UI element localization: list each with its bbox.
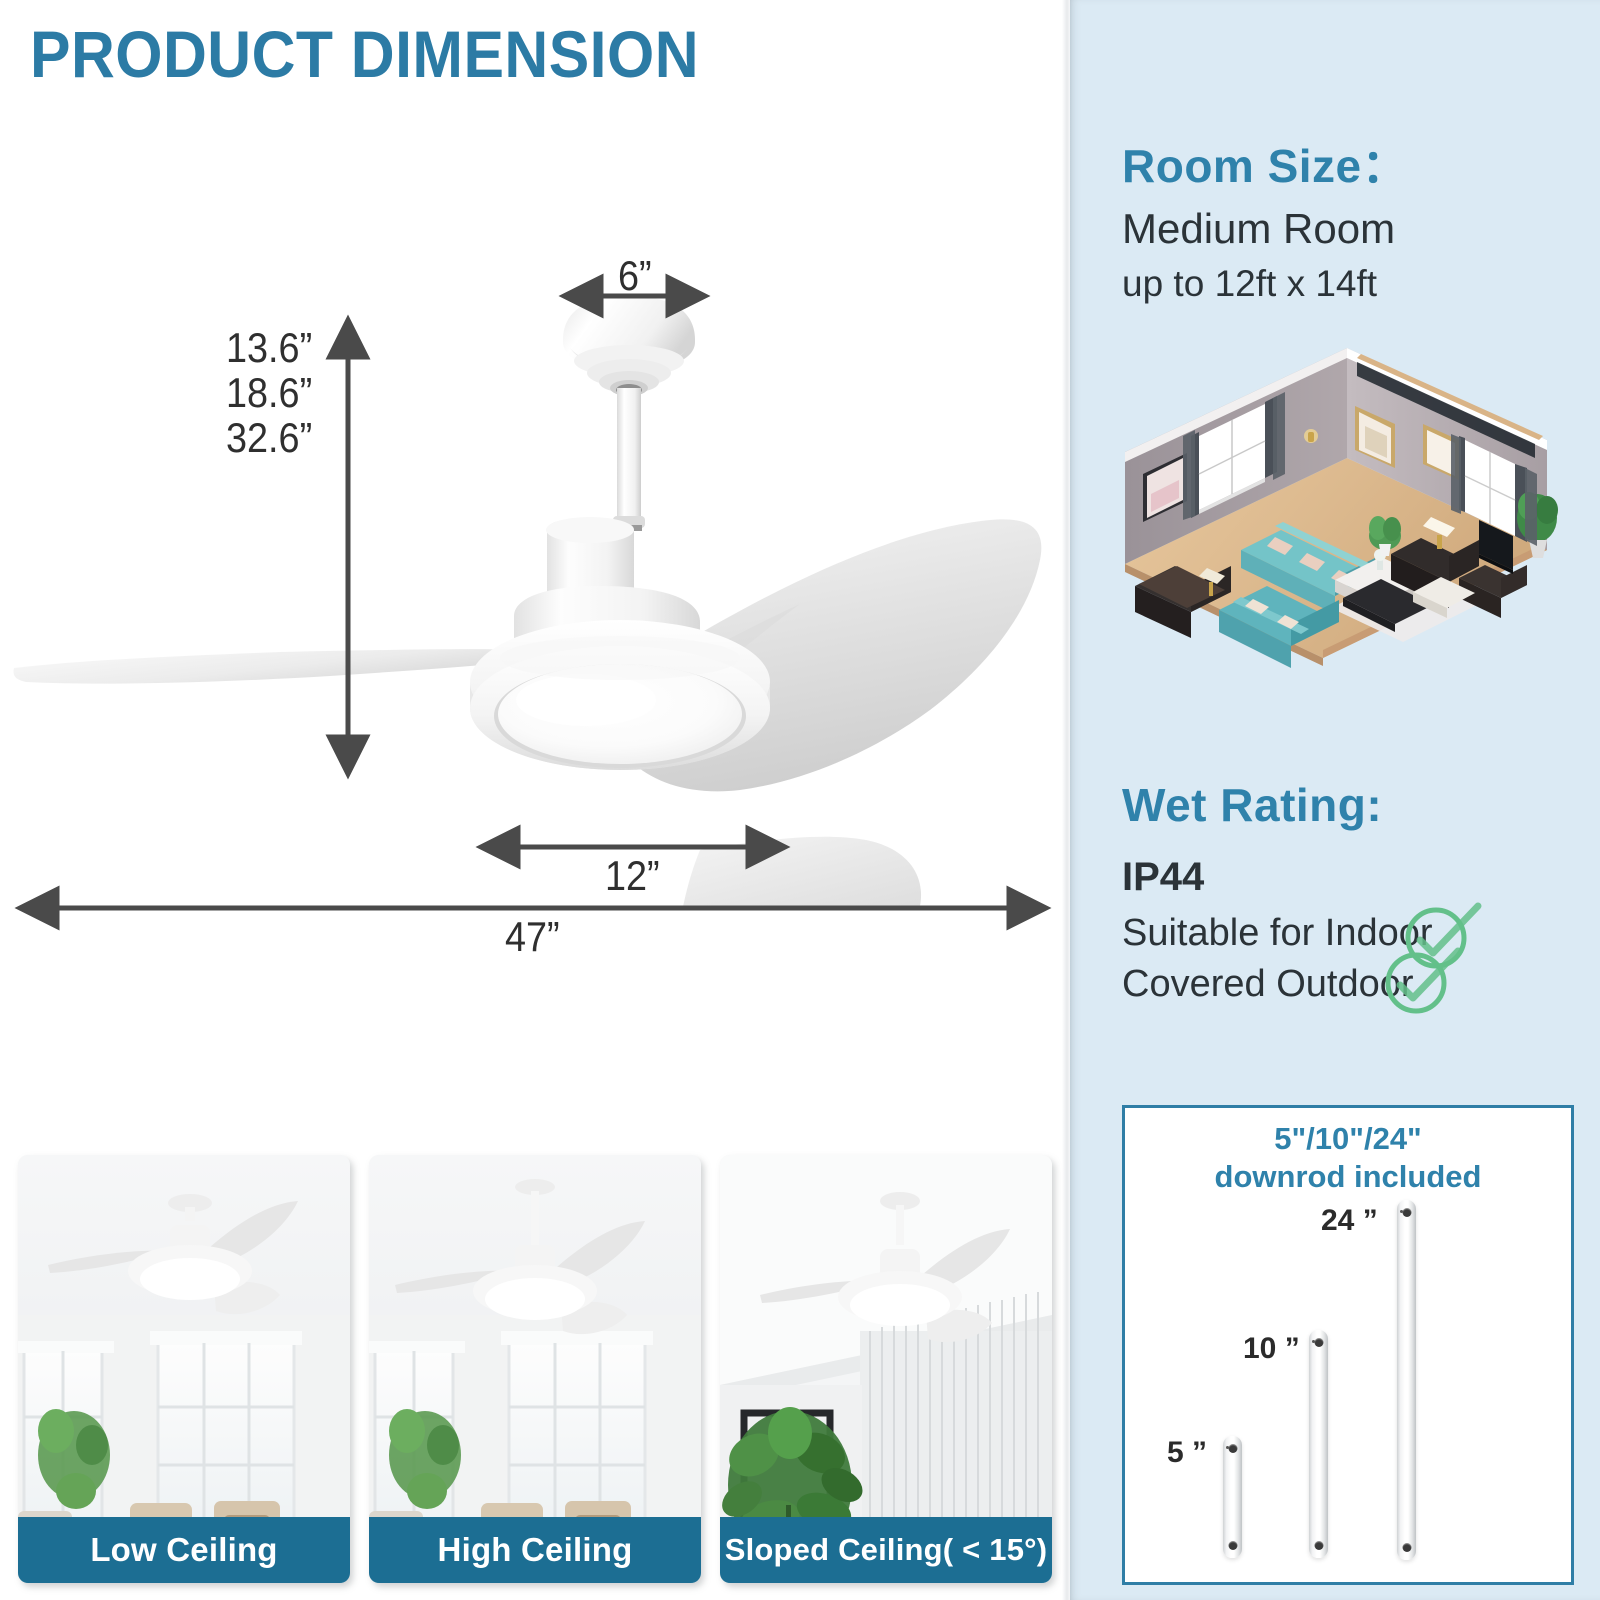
thumbnail-sloped-ceiling[interactable]: Sloped Ceiling( < 15°): [720, 1155, 1052, 1583]
room-size-heading: Room Size：: [1122, 130, 1408, 196]
wet-rating-code: IP44: [1122, 855, 1204, 900]
wet-rating-heading: Wet Rating:: [1122, 778, 1382, 832]
thumbnail-caption: Low Ceiling: [18, 1517, 350, 1583]
downrod-label-5: 5 ”: [1167, 1436, 1207, 1470]
downrod-24: [1397, 1200, 1416, 1560]
downrod-panel: 5"/10"/24" downrod included 24 ” 10 ” 5 …: [1122, 1105, 1574, 1585]
blade-span-label: 47”: [505, 913, 560, 961]
downrod-5: [1223, 1436, 1242, 1558]
infographic-page: PRODUCT DIMENSION: [0, 0, 1600, 1600]
room-size-value: Medium Room: [1122, 205, 1395, 253]
thumbnail-caption: High Ceiling: [369, 1517, 701, 1583]
height-option-2: 18.6”: [226, 370, 312, 415]
height-option-1: 13.6”: [226, 325, 312, 370]
dimension-arrows: [0, 0, 1070, 1000]
downrod-title-line1: 5"/10"/24": [1125, 1120, 1571, 1158]
thumbnail-caption: Sloped Ceiling( < 15°): [720, 1517, 1052, 1583]
downrod-label-10: 10 ”: [1243, 1332, 1300, 1366]
downrod-title: 5"/10"/24" downrod included: [1125, 1120, 1571, 1196]
downrod-title-line2: downrod included: [1125, 1158, 1571, 1196]
check-icon: [1378, 943, 1464, 1026]
thumbnail-low-ceiling[interactable]: Low Ceiling: [18, 1155, 350, 1583]
downrod-10: [1309, 1330, 1328, 1558]
light-width-label: 12”: [605, 852, 660, 900]
living-room-render: [1095, 340, 1575, 680]
wet-rating-detail-2: Covered Outdoor: [1122, 963, 1414, 1006]
height-options: 13.6” 18.6” 32.6”: [226, 325, 322, 460]
canopy-width-label: 6”: [618, 252, 652, 300]
room-size-detail: up to 12ft x 14ft: [1122, 263, 1377, 305]
thumbnail-high-ceiling[interactable]: High Ceiling: [369, 1155, 701, 1583]
ceiling-type-gallery: Low Ceiling: [0, 1155, 1070, 1600]
downrod-label-24: 24 ”: [1321, 1204, 1378, 1238]
height-option-3: 32.6”: [226, 415, 312, 460]
living-room-svg: [1095, 340, 1575, 680]
